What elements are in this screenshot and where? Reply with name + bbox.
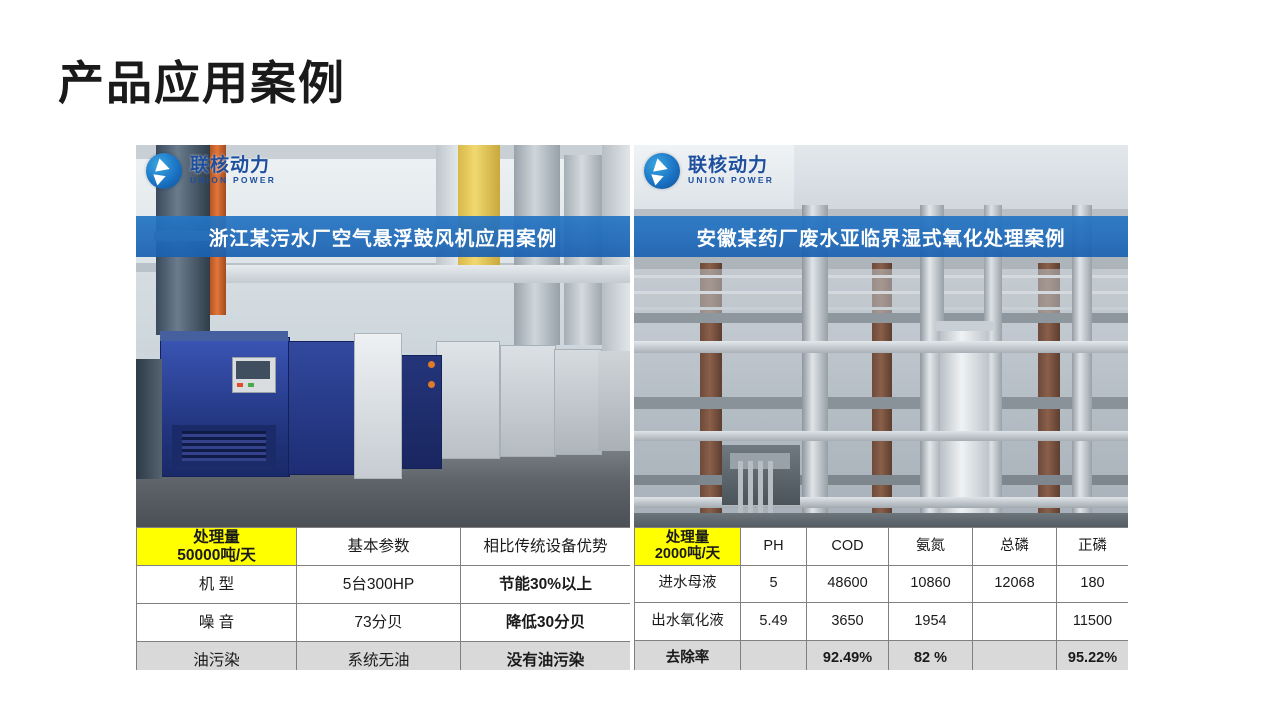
- header-total-phosphorus: 总磷: [973, 528, 1057, 566]
- brand-name-cn: 联核动力: [190, 156, 276, 176]
- row-advantage-oil: 没有油污染: [461, 642, 631, 671]
- cell-removal-ph: [741, 640, 807, 670]
- table-row: 去除率 92.49% 82 % 95.22%: [635, 640, 1129, 670]
- photo-blowroom: 联核动力 UNION POWER 浙江某污水厂空气悬浮鼓风机应用案例: [136, 145, 630, 527]
- cell-influent-orthophosphate: 180: [1057, 565, 1129, 603]
- row-value-noise: 73分贝: [297, 604, 461, 642]
- spec-table-right: 处理量 2000吨/天 PH COD 氨氮 总磷 正磷 进水母液 5 48600…: [634, 527, 1128, 670]
- photo-oxidation-plant: 联核动力 UNION POWER 安徽某药厂废水亚临界湿式氧化处理案例: [634, 145, 1128, 527]
- cell-removal-orthophosphate: 95.22%: [1057, 640, 1129, 670]
- union-power-logo-icon: [644, 153, 680, 189]
- cell-effluent-total-phosphorus: [973, 603, 1057, 641]
- table-row: 噪 音 73分贝 降低30分贝: [137, 604, 631, 642]
- slide-canvas: 产品应用案例: [0, 0, 1280, 720]
- header-advantage: 相比传统设备优势: [461, 528, 631, 566]
- cell-effluent-ammonia: 1954: [889, 603, 973, 641]
- row-label-effluent: 出水氧化液: [635, 603, 741, 641]
- cell-influent-total-phosphorus: 12068: [973, 565, 1057, 603]
- header-basic-params: 基本参数: [297, 528, 461, 566]
- row-value-oil: 系统无油: [297, 642, 461, 671]
- union-power-logo-icon: [146, 153, 182, 189]
- cell-influent-cod: 48600: [807, 565, 889, 603]
- page-title: 产品应用案例: [58, 58, 346, 109]
- header-throughput-line1: 处理量: [635, 530, 740, 547]
- brand-logo-right: 联核动力 UNION POWER: [644, 153, 774, 189]
- spec-table-left: 处理量 50000吨/天 基本参数 相比传统设备优势 机 型 5台300HP 节…: [136, 527, 630, 670]
- cell-influent-ammonia: 10860: [889, 565, 973, 603]
- row-label-oil: 油污染: [137, 642, 297, 671]
- header-ammonia: 氨氮: [889, 528, 973, 566]
- case-panel-left: 联核动力 UNION POWER 浙江某污水厂空气悬浮鼓风机应用案例 处理量: [136, 145, 630, 670]
- brand-logo-left: 联核动力 UNION POWER: [146, 153, 276, 189]
- caption-band-left: 浙江某污水厂空气悬浮鼓风机应用案例: [136, 216, 630, 257]
- row-advantage-noise: 降低30分贝: [461, 604, 631, 642]
- header-orthophosphate: 正磷: [1057, 528, 1129, 566]
- cell-removal-ammonia: 82 %: [889, 640, 973, 670]
- header-cod: COD: [807, 528, 889, 566]
- header-throughput-line2: 50000吨/天: [137, 547, 296, 565]
- table-header-row: 处理量 2000吨/天 PH COD 氨氮 总磷 正磷: [635, 528, 1129, 566]
- row-label-model: 机 型: [137, 566, 297, 604]
- header-ph: PH: [741, 528, 807, 566]
- table-row: 机 型 5台300HP 节能30%以上: [137, 566, 631, 604]
- cell-removal-cod: 92.49%: [807, 640, 889, 670]
- case-panel-right: 联核动力 UNION POWER 安徽某药厂废水亚临界湿式氧化处理案例: [634, 145, 1128, 670]
- header-throughput: 处理量 50000吨/天: [137, 528, 297, 566]
- header-throughput-line1: 处理量: [137, 529, 296, 547]
- table-row: 进水母液 5 48600 10860 12068 180: [635, 565, 1129, 603]
- caption-text-left: 浙江某污水厂空气悬浮鼓风机应用案例: [209, 222, 558, 251]
- caption-text-right: 安徽某药厂废水亚临界湿式氧化处理案例: [696, 222, 1065, 251]
- cell-removal-total-phosphorus: [973, 640, 1057, 670]
- cell-effluent-ph: 5.49: [741, 603, 807, 641]
- header-throughput: 处理量 2000吨/天: [635, 528, 741, 566]
- table-row: 油污染 系统无油 没有油污染: [137, 642, 631, 671]
- brand-name-en: UNION POWER: [190, 175, 276, 186]
- row-value-model: 5台300HP: [297, 566, 461, 604]
- row-label-noise: 噪 音: [137, 604, 297, 642]
- caption-band-right: 安徽某药厂废水亚临界湿式氧化处理案例: [634, 216, 1128, 257]
- header-throughput-line2: 2000吨/天: [635, 546, 740, 563]
- table-row: 出水氧化液 5.49 3650 1954 11500: [635, 603, 1129, 641]
- cell-effluent-orthophosphate: 11500: [1057, 603, 1129, 641]
- table-header-row: 处理量 50000吨/天 基本参数 相比传统设备优势: [137, 528, 631, 566]
- row-advantage-model: 节能30%以上: [461, 566, 631, 604]
- cell-influent-ph: 5: [741, 565, 807, 603]
- row-label-removal-rate: 去除率: [635, 640, 741, 670]
- row-label-influent: 进水母液: [635, 565, 741, 603]
- brand-name-en: UNION POWER: [688, 175, 774, 186]
- brand-name-cn: 联核动力: [688, 156, 774, 176]
- cell-effluent-cod: 3650: [807, 603, 889, 641]
